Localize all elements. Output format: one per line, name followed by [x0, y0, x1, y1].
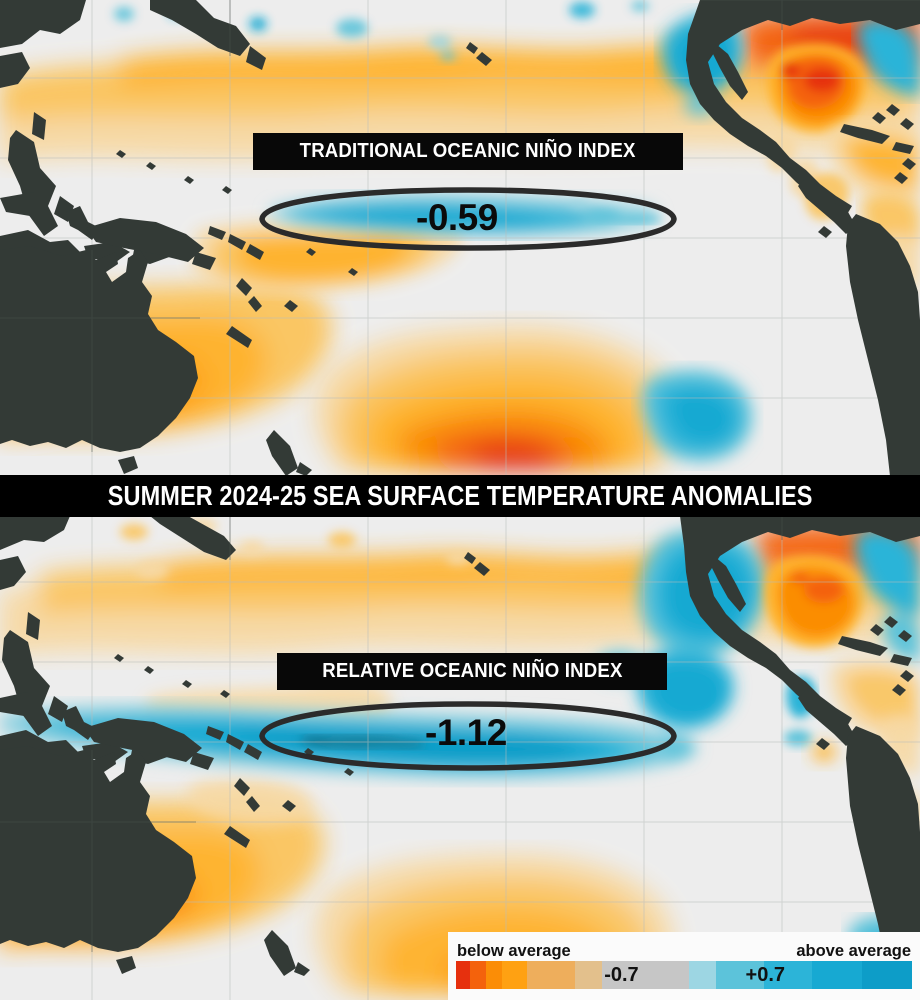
- panel-label-relative: RELATIVE OCEANIC NIÑO INDEX: [277, 653, 667, 690]
- page-title: SUMMER 2024-25 SEA SURFACE TEMPERATURE A…: [108, 482, 813, 510]
- sst-anomaly-figure: SUMMER 2024-25 SEA SURFACE TEMPERATURE A…: [0, 0, 920, 1000]
- colorbar-tick-positive: +0.7: [746, 961, 785, 989]
- colorbar-swatch-6: [575, 961, 602, 989]
- colorbar-swatch-9: [486, 961, 502, 989]
- colorbar-swatch-7: [527, 961, 575, 989]
- colorbar-legend: below average above average -0.7 +0.7: [448, 932, 920, 1000]
- colorbar-tick-negative: -0.7: [604, 961, 638, 989]
- colorbar-swatch-11: [456, 961, 470, 989]
- panel-label-traditional-text: TRADITIONAL OCEANIC NIÑO INDEX: [300, 140, 636, 163]
- legend-label-below: below average: [457, 943, 571, 960]
- colorbar-swatch-0: [862, 961, 912, 989]
- colorbar-swatch-1: [812, 961, 862, 989]
- panel-label-traditional: TRADITIONAL OCEANIC NIÑO INDEX: [253, 133, 683, 170]
- colorbar: -0.7 +0.7: [456, 961, 912, 989]
- index-value-traditional: -0.59: [416, 199, 498, 236]
- colorbar-swatch-10: [470, 961, 486, 989]
- legend-labels: below average above average: [456, 937, 912, 959]
- panel-label-relative-text: RELATIVE OCEANIC NIÑO INDEX: [322, 660, 622, 683]
- colorbar-swatch-4: [689, 961, 716, 989]
- figure-title-band: SUMMER 2024-25 SEA SURFACE TEMPERATURE A…: [0, 475, 920, 517]
- colorbar-swatch-8: [502, 961, 527, 989]
- index-value-relative: -1.12: [425, 714, 507, 751]
- legend-label-above: above average: [796, 943, 911, 960]
